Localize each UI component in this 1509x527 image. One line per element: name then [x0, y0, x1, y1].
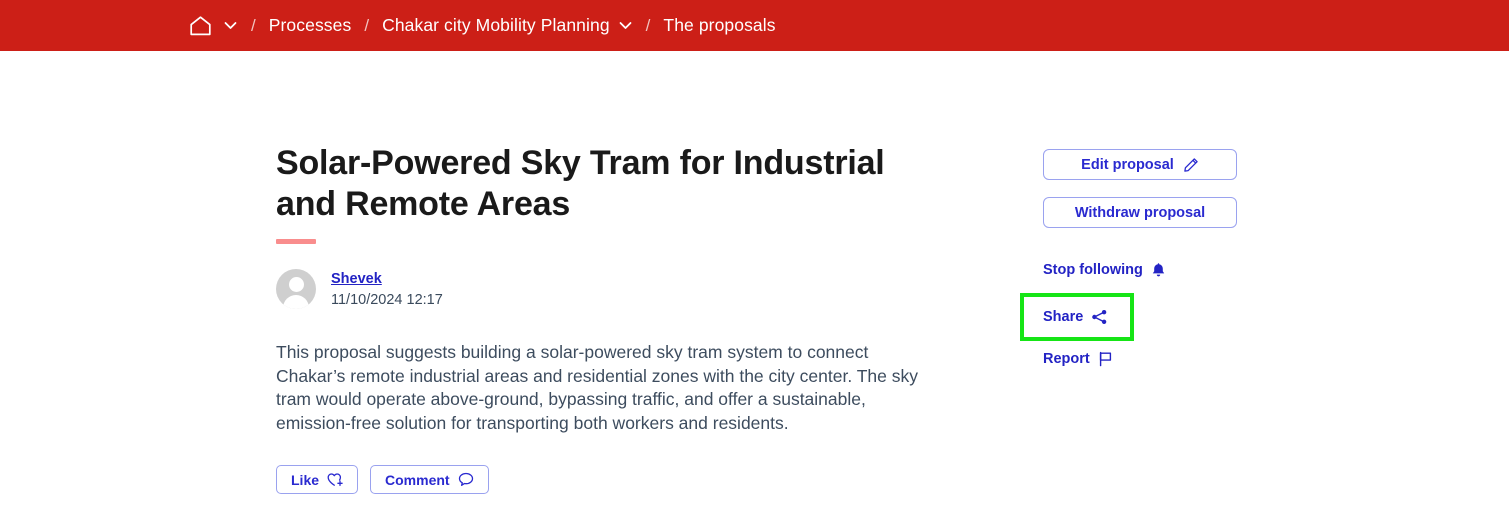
speech-bubble-icon: [458, 472, 474, 487]
main-content: Solar-Powered Sky Tram for Industrial an…: [0, 51, 1509, 527]
breadcrumb: / Processes / Chakar city Mobility Plann…: [188, 0, 776, 51]
share-highlight-box: Share: [1020, 293, 1134, 341]
stop-following-link[interactable]: Stop following: [1043, 259, 1166, 281]
rail-links: Stop following Share: [1043, 259, 1237, 370]
share-link[interactable]: Share: [1043, 306, 1108, 328]
edit-proposal-button[interactable]: Edit proposal: [1043, 149, 1237, 180]
title-accent-bar: [276, 239, 316, 244]
comment-button-label: Comment: [385, 472, 450, 488]
breadcrumb-separator: /: [251, 17, 256, 34]
share-nodes-icon: [1091, 309, 1108, 325]
breadcrumb-separator: /: [364, 17, 369, 34]
avatar-body: [283, 295, 309, 309]
avatar[interactable]: [276, 269, 316, 309]
author-meta: Shevek 11/10/2024 12:17: [331, 270, 443, 308]
breadcrumb-bar: / Processes / Chakar city Mobility Plann…: [0, 0, 1509, 51]
like-button-label: Like: [291, 472, 319, 488]
publish-date: 11/10/2024 12:17: [331, 292, 443, 308]
report-label: Report: [1043, 351, 1090, 367]
share-label: Share: [1043, 309, 1083, 325]
bell-icon: [1151, 262, 1166, 278]
breadcrumb-separator: /: [646, 17, 651, 34]
breadcrumb-process-chevron-down-icon[interactable]: [619, 21, 632, 30]
heart-plus-icon: [327, 472, 343, 487]
stop-following-label: Stop following: [1043, 262, 1143, 278]
breadcrumb-item-processes[interactable]: Processes: [269, 17, 352, 35]
pencil-icon: [1183, 157, 1199, 173]
comment-button[interactable]: Comment: [370, 465, 489, 494]
like-button[interactable]: Like: [276, 465, 358, 494]
author-name-link[interactable]: Shevek: [331, 271, 382, 287]
breadcrumb-item-current[interactable]: The proposals: [663, 17, 775, 35]
proposal-actions-rail: Edit proposal Withdraw proposal Stop fol…: [1043, 149, 1237, 382]
withdraw-proposal-button[interactable]: Withdraw proposal: [1043, 197, 1237, 228]
report-link[interactable]: Report: [1043, 348, 1113, 370]
home-icon: [188, 14, 213, 38]
page-title: Solar-Powered Sky Tram for Industrial an…: [276, 143, 916, 225]
withdraw-proposal-label: Withdraw proposal: [1075, 205, 1205, 221]
avatar-head: [289, 277, 304, 292]
breadcrumb-home-chevron-down-icon[interactable]: [224, 21, 237, 30]
breadcrumb-home-link[interactable]: [188, 14, 215, 38]
reaction-row: Like Comment: [276, 465, 956, 494]
author-block: Shevek 11/10/2024 12:17: [276, 269, 956, 309]
proposal-article: Solar-Powered Sky Tram for Industrial an…: [276, 143, 956, 494]
proposal-body-text: This proposal suggests building a solar-…: [276, 341, 936, 435]
breadcrumb-item-process[interactable]: Chakar city Mobility Planning: [382, 17, 610, 35]
flag-icon: [1098, 351, 1113, 367]
edit-proposal-label: Edit proposal: [1081, 157, 1174, 173]
